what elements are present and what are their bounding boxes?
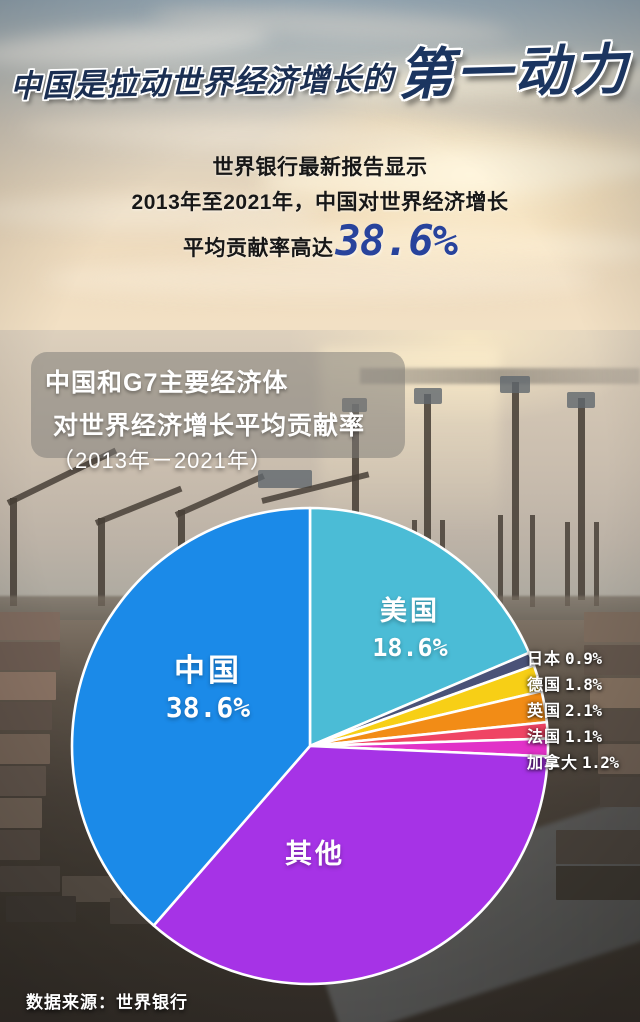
legend-item: 日本0.9%: [527, 645, 640, 671]
legend-item-name: 加拿大: [527, 749, 578, 773]
legend-item-name: 英国: [527, 697, 561, 721]
legend-item-value: 2.1%: [565, 701, 602, 720]
infographic-poster: 中国是拉动世界经济增长的 第一动力 世界银行最新报告显示 2013年至2021年…: [0, 0, 640, 1022]
data-source-label: 数据来源：世界银行: [26, 988, 188, 1013]
chart-legend: 日本0.9%德国1.8%英国2.1%法国1.1%加拿大1.2%: [527, 645, 640, 775]
legend-item: 法国1.1%: [527, 723, 640, 749]
pie-chart-svg: [0, 0, 640, 1022]
legend-item-value: 0.9%: [565, 649, 602, 668]
legend-item-value: 1.8%: [565, 675, 602, 694]
legend-item: 德国1.8%: [527, 671, 640, 697]
legend-item-value: 1.1%: [565, 727, 602, 746]
legend-item: 英国2.1%: [527, 697, 640, 723]
legend-item-name: 日本: [527, 645, 561, 669]
legend-item: 加拿大1.2%: [527, 749, 640, 775]
legend-item-value: 1.2%: [582, 753, 619, 772]
pie-chart: 中国 38.6% 美国 18.6% 其他: [0, 0, 640, 1022]
pie-slices: [72, 508, 548, 984]
legend-item-name: 德国: [527, 671, 561, 695]
legend-item-name: 法国: [527, 723, 561, 747]
